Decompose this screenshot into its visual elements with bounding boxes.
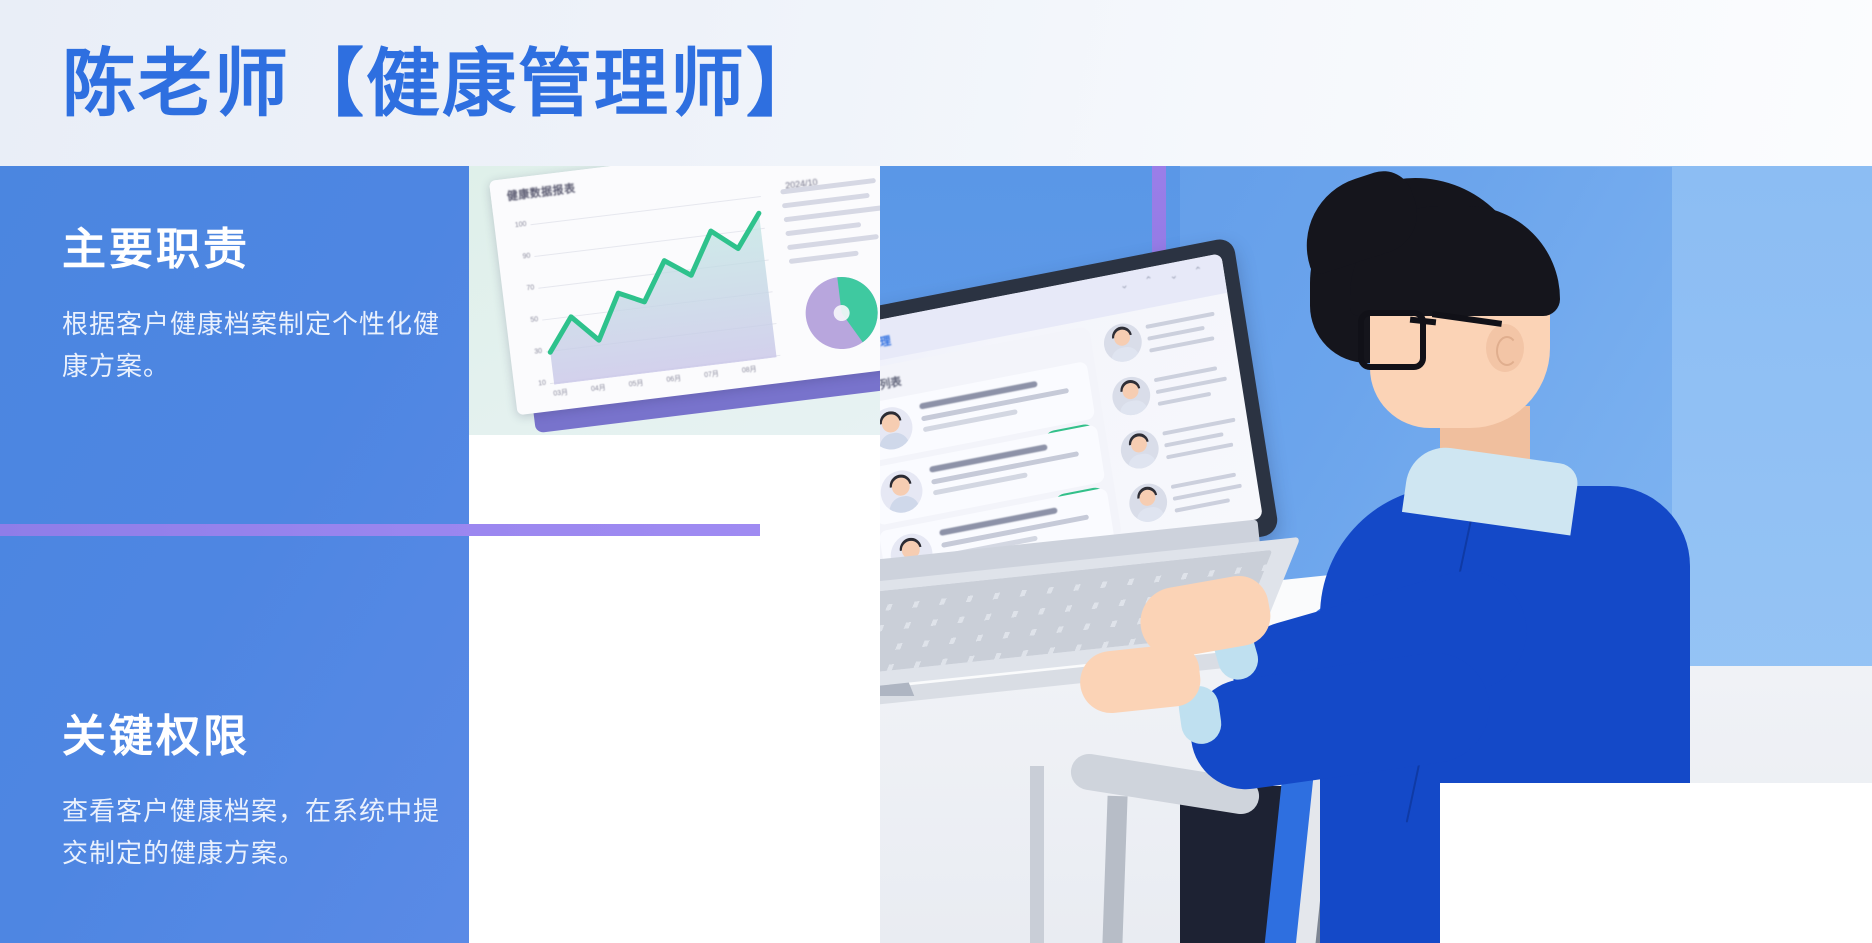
x-tick-0: 03月 xyxy=(553,387,569,399)
x-tick-1: 04月 xyxy=(590,382,606,394)
app-brand-label: 健康管理 xyxy=(880,332,892,356)
avatar xyxy=(1118,427,1161,472)
header-band: 陈老师【健康管理师】 xyxy=(0,0,1872,166)
avatar xyxy=(880,404,915,454)
page-title: 陈老师【健康管理师】 xyxy=(62,40,822,128)
chart-illustration-panel: 健康数据报表 2024/10 100 90 70 50 30 10 03月 xyxy=(469,166,880,435)
list-item-text xyxy=(919,375,1071,432)
left-info-column: 主要职责 根据客户健康档案制定个性化健康方案。 关键权限 查看客户健康档案，在系… xyxy=(0,166,469,943)
list-item-text xyxy=(929,438,1081,495)
section-main-responsibility: 主要职责 根据客户健康档案制定个性化健康方案。 xyxy=(0,166,469,526)
avatar xyxy=(1101,320,1144,365)
person-ear-inner xyxy=(1496,336,1518,366)
section-key-permission: 关键权限 查看客户健康档案，在系统中提交制定的健康方案。 xyxy=(0,536,469,943)
line-chart: 100 90 70 50 30 10 03月 04月 05月 06月 07月 0… xyxy=(531,196,781,385)
section-body-permission: 查看客户健康档案，在系统中提交制定的健康方案。 xyxy=(62,791,447,875)
pie-chart xyxy=(795,266,880,360)
y-tick-2: 50 xyxy=(516,316,539,326)
list-title: 客户列表 xyxy=(880,373,902,397)
x-tick-4: 07月 xyxy=(704,368,720,380)
bottom-right-white-block xyxy=(1440,783,1872,943)
section-heading-responsibility: 主要职责 xyxy=(62,224,250,276)
y-tick-4: 90 xyxy=(508,253,531,263)
poster-canvas: 陈老师【健康管理师】 主要职责 根据客户健康档案制定个性化健康方案。 关键权限 … xyxy=(0,0,1872,943)
pie-chart-svg xyxy=(795,266,880,360)
document-text-lines xyxy=(780,177,880,273)
y-tick-1: 30 xyxy=(520,348,543,358)
y-tick-5: 100 xyxy=(504,221,527,231)
x-tick-5: 08月 xyxy=(741,364,757,376)
y-tick-3: 70 xyxy=(512,284,535,294)
desk-leg-back xyxy=(1030,766,1044,943)
avatar xyxy=(880,467,925,517)
x-tick-2: 05月 xyxy=(628,378,644,390)
avatar xyxy=(1110,374,1153,419)
avatar xyxy=(1127,480,1170,525)
document-card: 健康数据报表 2024/10 100 90 70 50 30 10 03月 xyxy=(489,166,880,415)
y-tick-0: 10 xyxy=(524,380,547,390)
section-divider xyxy=(0,524,760,536)
office-scene-illustration: 健康管理 ⌄ ⌃ ⌄ ⌃ 客户列表 xyxy=(880,166,1872,943)
line-chart-series xyxy=(531,196,781,385)
section-body-responsibility: 根据客户健康档案制定个性化健康方案。 xyxy=(62,304,447,388)
report-document: 健康数据报表 2024/10 100 90 70 50 30 10 03月 xyxy=(481,166,880,435)
window-controls-icon: ⌄ ⌃ ⌄ ⌃ xyxy=(1119,264,1210,292)
section-heading-permission: 关键权限 xyxy=(62,711,250,763)
x-tick-3: 06月 xyxy=(666,373,682,385)
